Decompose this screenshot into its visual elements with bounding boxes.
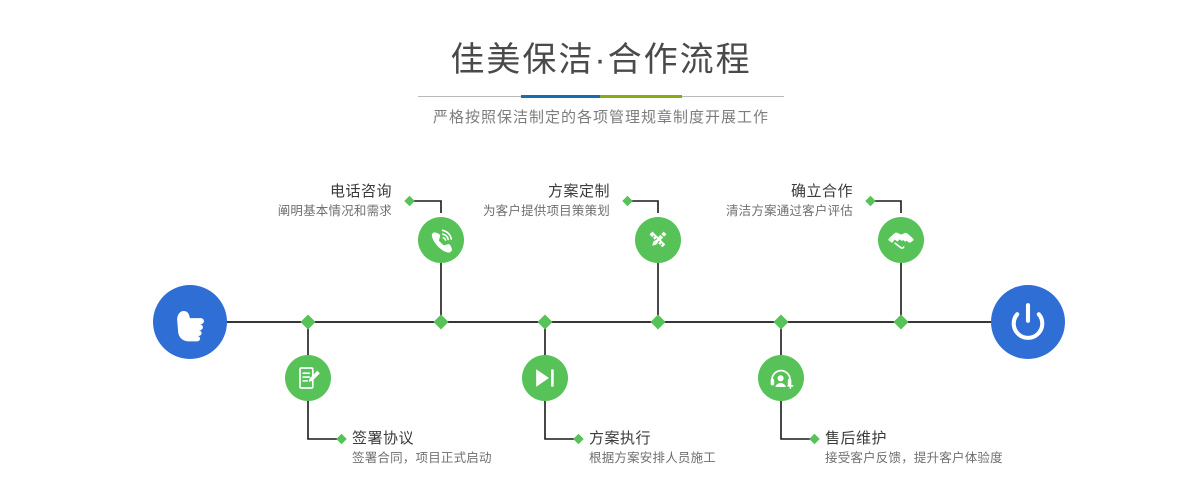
step-title-5: 确立合作 <box>726 182 853 202</box>
title-divider <box>418 95 784 98</box>
process-timeline: 电话咨询 阐明基本情况和需求 方案定制 为客户提供项目策策划 确立合作 清洁方案… <box>0 150 1202 502</box>
step-label-3[interactable]: 方案定制 为客户提供项目策策划 <box>483 182 610 221</box>
step-title-6: 售后维护 <box>825 429 1003 449</box>
divider-segment-blue <box>521 95 600 98</box>
step-label-4[interactable]: 方案执行 根据方案安排人员施工 <box>589 429 716 468</box>
end-node[interactable] <box>991 285 1065 359</box>
step-desc-4: 根据方案安排人员施工 <box>589 449 716 468</box>
step-node-5[interactable] <box>878 217 924 263</box>
page-subtitle: 严格按照保洁制定的各项管理规章制度开展工作 <box>0 106 1202 130</box>
step-desc-1: 阐明基本情况和需求 <box>278 202 392 221</box>
page-title: 佳美保洁·合作流程 <box>0 38 1202 82</box>
step-label-5[interactable]: 确立合作 清洁方案通过客户评估 <box>726 182 853 221</box>
step-title-4: 方案执行 <box>589 429 716 449</box>
step-title-1: 电话咨询 <box>278 182 392 202</box>
divider-segment-green <box>600 95 682 98</box>
start-node[interactable] <box>153 285 227 359</box>
step-label-2[interactable]: 签署协议 签署合同，项目正式启动 <box>352 429 492 468</box>
step-node-1[interactable] <box>418 217 464 263</box>
step-title-3: 方案定制 <box>483 182 610 202</box>
step-title-2: 签署协议 <box>352 429 492 449</box>
flow-chart-page: 佳美保洁·合作流程 严格按照保洁制定的各项管理规章制度开展工作 <box>0 0 1202 502</box>
step-node-6[interactable] <box>758 355 804 401</box>
step-desc-6: 接受客户反馈，提升客户体验度 <box>825 449 1003 468</box>
step-desc-5: 清洁方案通过客户评估 <box>726 202 853 221</box>
step-label-6[interactable]: 售后维护 接受客户反馈，提升客户体验度 <box>825 429 1003 468</box>
step-desc-3: 为客户提供项目策策划 <box>483 202 610 221</box>
step-node-4[interactable] <box>522 355 568 401</box>
label-markers <box>336 196 875 444</box>
step-desc-2: 签署合同，项目正式启动 <box>352 449 492 468</box>
step-node-3[interactable] <box>635 217 681 263</box>
step-node-2[interactable] <box>285 355 331 401</box>
step-label-1[interactable]: 电话咨询 阐明基本情况和需求 <box>278 182 392 221</box>
